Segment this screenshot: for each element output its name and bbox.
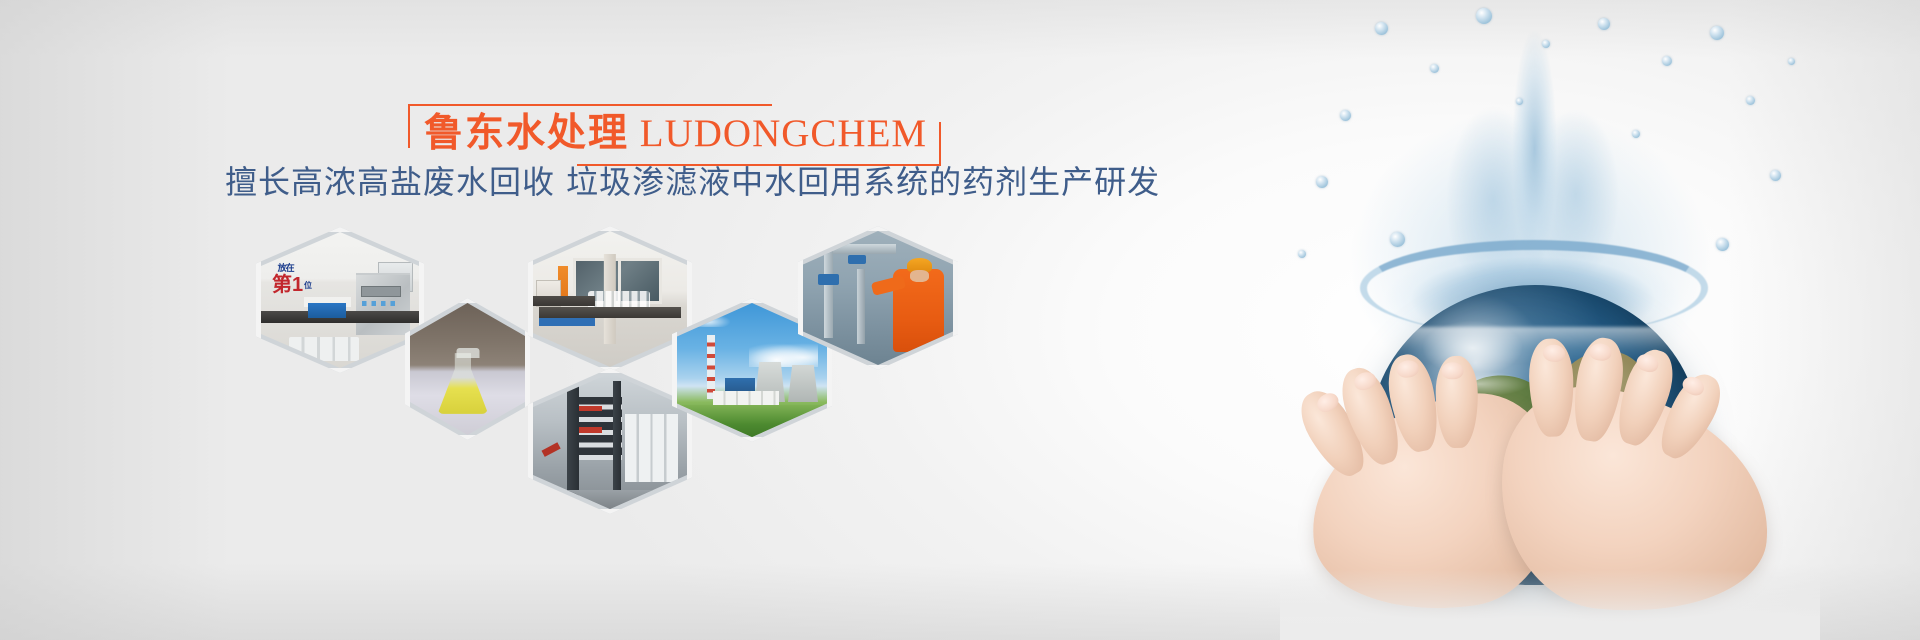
ro-membrane-vessels xyxy=(625,414,677,482)
lab-equipment-blue xyxy=(308,303,346,318)
lab-room-photo: 放在 第1 位 xyxy=(261,232,419,368)
ro-frame-right xyxy=(613,381,621,501)
fingernail xyxy=(1441,362,1463,379)
lab-control-cabinet xyxy=(356,273,410,336)
hex-photo-lab-room: 放在 第1 位 xyxy=(256,227,424,373)
hex-photo-ro-skid xyxy=(528,368,692,514)
lab-chemical-jugs xyxy=(289,337,359,361)
droplet xyxy=(1298,250,1306,258)
vertical-pipe-left xyxy=(824,244,833,338)
worker-photo xyxy=(803,231,953,365)
ro-base-platform xyxy=(533,490,687,509)
ro-red-hose xyxy=(542,443,561,458)
green-field xyxy=(677,405,827,437)
droplet xyxy=(1340,110,1351,121)
droplet xyxy=(1710,26,1724,40)
cooling-tower-2 xyxy=(788,365,818,403)
droplet xyxy=(1770,170,1781,181)
droplet xyxy=(1542,40,1550,48)
wall-slogan-line3: 位 xyxy=(304,280,312,291)
cabinet-button-row xyxy=(362,301,400,306)
droplet xyxy=(1316,176,1328,188)
ro-frame-left xyxy=(567,381,579,501)
wall-slogan-line1: 放在 xyxy=(278,261,294,274)
flask-body xyxy=(438,353,489,414)
droplet xyxy=(1476,8,1492,24)
plant-building-white xyxy=(713,391,779,404)
hexagon-photo-cluster: 放在 第1 位 xyxy=(0,0,1000,540)
smokestack xyxy=(707,335,715,399)
hex-photo-glassware-lab xyxy=(528,226,692,372)
wrist-fade-overlay xyxy=(1280,570,1820,640)
sky-cloud xyxy=(686,314,731,327)
cabinet-panel xyxy=(361,286,401,297)
glassware-lab-photo xyxy=(533,231,687,367)
droplet xyxy=(1788,58,1795,65)
droplet xyxy=(1662,56,1672,66)
blue-valve-2 xyxy=(848,255,866,264)
overhead-pipe xyxy=(815,244,896,253)
droplet xyxy=(1375,22,1388,35)
droplet xyxy=(1716,238,1729,251)
water-globe-scene xyxy=(1160,0,1920,640)
lab-bench-front xyxy=(539,307,681,318)
bench-blue-frame xyxy=(539,318,594,326)
wall-slogan-line2: 第1 xyxy=(272,275,303,295)
wall-slogan: 放在 第1 位 xyxy=(272,261,342,296)
ro-skid-photo xyxy=(533,373,687,509)
droplet xyxy=(1430,64,1439,73)
droplet xyxy=(1746,96,1755,105)
vertical-pipe-mid xyxy=(857,269,865,344)
droplet xyxy=(1632,130,1640,138)
worker-face xyxy=(910,270,930,282)
lab-bench-rear xyxy=(533,296,595,306)
yellow-flask-photo xyxy=(410,303,525,435)
droplet xyxy=(1516,98,1523,105)
promotional-banner: 鲁东水处理 LUDONGCHEM 擅长高浓高盐废水回收 垃圾渗滤液中水回用系统的… xyxy=(0,0,1920,640)
droplet xyxy=(1598,18,1610,30)
blue-valve-1 xyxy=(818,274,839,285)
